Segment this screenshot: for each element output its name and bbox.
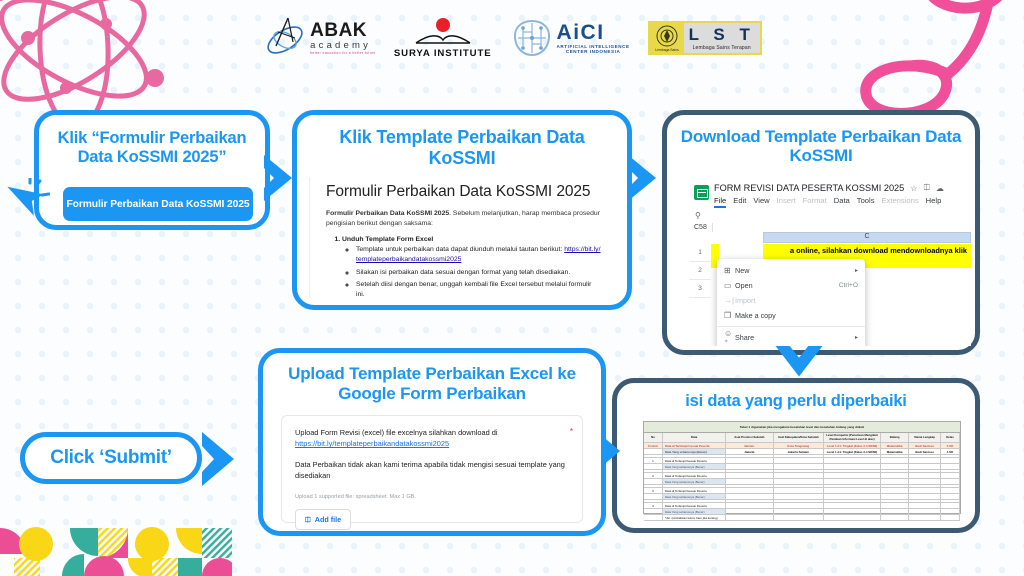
surya-sun-book-icon: [411, 17, 475, 47]
cell-no: 3: [644, 488, 663, 493]
menu-item-open-shortcut: Ctrl+O: [839, 282, 858, 289]
form-doc-bullet-1-text: Template untuk perbaikan data dapat diun…: [356, 246, 564, 253]
move-folder-icon[interactable]: ⎅: [923, 183, 929, 193]
cell-kelas: 3 SD: [941, 443, 960, 448]
cell-bidang: Matematika: [881, 449, 909, 454]
sheets-toolbar: ⚲: [689, 208, 971, 223]
aici-logo: AiCI ARTIFICIAL INTELLIGENCE CENTER INDO…: [510, 17, 630, 59]
aici-logo-line1: AiCI: [557, 22, 630, 43]
cloud-status-icon: ☁: [936, 184, 944, 193]
menu-extensions[interactable]: Extensions: [882, 196, 919, 208]
cell-kabupaten: Kota Tangerang: [774, 443, 825, 448]
add-file-label: Add file: [315, 514, 341, 525]
cell-bidang: Matematika: [881, 443, 909, 448]
menu-item-email[interactable]: ✉ Email ▸: [717, 345, 865, 346]
cell-data: Data Yang seharusnya (Benar): [663, 449, 726, 454]
aici-logo-line3: CENTER INDONESIA: [557, 50, 630, 55]
cell-data: Data di Terlampir/sesuai Peserta: [663, 503, 726, 508]
step-1-title: Klik “Formulir Perbaikan Data KoSSMI 202…: [39, 115, 265, 167]
step-3-title: Download Template Perbaikan Data KoSSMI: [667, 115, 975, 166]
form-doc-bullet-3: Setelah diisi dengan benar, unggah kemba…: [356, 280, 601, 297]
abak-logo-tagline: better education for a better future: [310, 52, 376, 55]
lst-logo-line1: L S T: [689, 26, 755, 43]
menu-item-import-label: Import: [735, 296, 858, 305]
form-document-screenshot: Formulir Perbaikan Data KoSSMI 2025 Form…: [309, 177, 615, 297]
cell-no: 2: [644, 473, 663, 478]
table-footer-row: *dst. (tambahkan kolom baru jika kurang): [644, 515, 960, 521]
cell-kelas: 4 SD: [941, 449, 960, 454]
sheets-document-title[interactable]: FORM REVISI DATA PESERTA KOSSMI 2025: [714, 183, 904, 193]
form-doc-bullet-2: Silakan isi perbaikan data sesuai dengan…: [356, 268, 601, 278]
lst-seal-icon: Lembaga Sains: [650, 23, 684, 53]
star-icon[interactable]: ☆: [910, 184, 917, 193]
row-header-1[interactable]: 1: [689, 244, 711, 262]
surya-logo-label: SURYA INSTITUTE: [394, 48, 492, 59]
arrow-step2-to-step3: [622, 152, 666, 204]
menu-separator-1: [717, 326, 865, 327]
abak-logo-line1: ABAK: [310, 21, 376, 40]
menu-item-make-a-copy[interactable]: ❐ Make a copy: [717, 308, 865, 323]
import-icon: →|: [724, 296, 735, 305]
menu-file[interactable]: File: [714, 196, 726, 208]
menu-item-open[interactable]: ▭ Open Ctrl+O: [717, 278, 865, 293]
copy-icon: ❐: [724, 311, 735, 320]
menu-item-copy-label: Make a copy: [735, 311, 858, 320]
file-dropdown-menu: ⊞ New ▸ ▭ Open Ctrl+O →| Import ❐ Make a…: [717, 259, 865, 346]
cell-nama: Budi Santoso: [909, 449, 941, 454]
lst-logo-line2: Lembaga Sains Terapan: [693, 45, 751, 51]
menu-tools[interactable]: Tools: [857, 196, 875, 208]
arrow-step5-to-step6: [196, 428, 244, 490]
cell-nama: Budi Santoso: [909, 443, 941, 448]
step-5-card: Upload Template Perbaikan Excel ke Googl…: [258, 348, 606, 536]
abak-logo-line2: academy: [310, 41, 376, 51]
menu-format[interactable]: Format: [803, 196, 827, 208]
sheets-menubar: File Edit View Insert Format Data Tools …: [714, 196, 967, 208]
cell-footer-note: *dst. (tambahkan kolom baru jika kurang): [663, 515, 726, 520]
google-sheets-screenshot: FORM REVISI DATA PESERTA KOSSMI 2025 ☆ ⎅…: [689, 179, 971, 346]
svg-text:Lembaga Sains: Lembaga Sains: [655, 48, 679, 52]
row-header-2[interactable]: 2: [689, 262, 711, 280]
cell-level: Level 1 A1: Tingkat (Kelas 3-4 SD/MI): [824, 443, 881, 448]
cell-kabupaten: Jakarta Selatan: [774, 449, 825, 454]
menu-item-open-label: Open: [735, 281, 839, 290]
header-no: No: [644, 433, 663, 442]
menu-help[interactable]: Help: [926, 196, 942, 208]
cell-no: Contoh: [644, 443, 663, 448]
form-template-link[interactable]: https://bit.ly/templateperbaikandatakoss…: [295, 439, 449, 448]
step-4-title: isi data yang perlu diperbaiki: [617, 383, 975, 411]
cell-data: Data Yang seharusnya (Benar): [663, 479, 726, 484]
menu-view[interactable]: View: [753, 196, 769, 208]
form-question-line2: Data Perbaikan tidak akan kami terima ap…: [295, 459, 569, 482]
menu-edit[interactable]: Edit: [733, 196, 746, 208]
form-doc-item-1-title: Unduh Template Form Excel: [342, 236, 433, 243]
cell-data: Data Yang seharusnya (Benar): [663, 464, 726, 469]
menu-item-share[interactable]: ☺⁺ Share ▸: [717, 330, 865, 345]
abak-academy-logo: ABAK academy better education for a bett…: [262, 16, 376, 60]
required-marker: *: [570, 426, 573, 438]
lst-logo: Lembaga Sains L S T Lembaga Sains Terapa…: [648, 21, 762, 55]
step-2-card: Klik Template Perbaikan Data KoSSMI Form…: [292, 110, 632, 310]
header-nama: Nama Lengkap: [909, 433, 941, 442]
cell-data: Data Yang seharusnya (Benar): [663, 494, 726, 499]
header-data: Data: [663, 433, 726, 442]
header-level: Level Kompetisi (Penulisan Mengikuti Pan…: [824, 433, 881, 442]
sheets-topbar: FORM REVISI DATA PESERTA KOSSMI 2025 ☆ ⎅…: [689, 179, 971, 208]
cell-provinsi: Banten: [726, 443, 773, 448]
cell-no: 1: [644, 458, 663, 463]
step-2-title: Klik Template Perbaikan Data KoSSMI: [297, 115, 627, 168]
cell-provinsi: Jakarta: [726, 449, 773, 454]
row-header-3[interactable]: 3: [689, 280, 711, 298]
menu-insert[interactable]: Insert: [777, 196, 796, 208]
search-icon[interactable]: ⚲: [695, 211, 701, 220]
cell-data: Data di Terlampir/sesuai Peserta: [663, 488, 726, 493]
header-provinsi: Asal Provinsi Sekolah: [726, 433, 773, 442]
new-icon: ⊞: [724, 266, 735, 275]
cell-no: 4: [644, 503, 663, 508]
formulir-perbaikan-button[interactable]: Formulir Perbaikan Data KoSSMI 2025: [63, 187, 253, 221]
form-doc-intro: Formulir Perbaikan Data KoSSMI 2025. Seb…: [326, 209, 601, 229]
aici-brain-icon: [510, 17, 554, 59]
sheets-title-row: FORM REVISI DATA PESERTA KOSSMI 2025 ☆ ⎅…: [714, 183, 967, 193]
menu-data[interactable]: Data: [834, 196, 850, 208]
header-kelas: Kelas: [941, 433, 960, 442]
form-doc-sublist: Template untuk perbaikan data dapat diun…: [356, 245, 601, 297]
menu-item-share-label: Share: [735, 333, 855, 342]
upload-icon: ⎅: [305, 514, 311, 525]
partner-logo-bar: ABAK academy better education for a bett…: [0, 16, 1024, 60]
add-file-button[interactable]: ⎅ Add file: [295, 509, 351, 530]
google-sheets-icon: [694, 185, 709, 200]
share-icon: ☺⁺: [724, 329, 735, 347]
step-1-card: Klik “Formulir Perbaikan Data KoSSMI 202…: [34, 110, 270, 230]
form-doc-heading: Formulir Perbaikan Data KoSSMI 2025: [326, 183, 601, 201]
cell-data: Data di Terlampir/sesuai Peserta: [663, 443, 726, 448]
google-form-upload-question: * Upload Form Revisi (excel) file exceln…: [281, 415, 583, 523]
form-doc-list: Unduh Template Form Excel Template untuk…: [342, 236, 601, 297]
upload-constraint-note: Upload 1 supported file: spreadsheet. Ma…: [295, 493, 569, 502]
row-headers: 1 2 3: [689, 244, 711, 298]
column-header-c[interactable]: C: [763, 232, 971, 243]
step-4-card: isi data yang perlu diperbaiki Tabel 1 d…: [612, 378, 980, 533]
menu-item-new[interactable]: ⊞ New ▸: [717, 263, 865, 278]
step-3-card: Download Template Perbaikan Data KoSSMI …: [662, 110, 980, 355]
geometric-pattern-decoration: [0, 514, 232, 576]
surya-institute-logo: SURYA INSTITUTE: [394, 17, 492, 59]
sheets-grid: C a online, silahkan download mendownloa…: [689, 232, 971, 308]
step-5-title: Upload Template Perbaikan Excel ke Googl…: [263, 353, 601, 403]
form-doc-item-1: Unduh Template Form Excel Template untuk…: [342, 236, 601, 297]
step-6-card: Click ‘Submit’: [20, 432, 202, 484]
menu-item-import[interactable]: →| Import: [717, 293, 865, 308]
header-bidang: Bidang: [881, 433, 909, 442]
open-icon: ▭: [724, 281, 735, 290]
chevron-right-icon: ▸: [855, 334, 858, 341]
chevron-right-icon: ▸: [855, 267, 858, 274]
cell-data: Data di Terlampir/sesuai Peserta: [663, 473, 726, 478]
form-doc-intro-bold: Formulir Perbaikan Data KoSSMI 2025: [326, 210, 449, 217]
form-question-line1: Upload Form Revisi (excel) file excelnya…: [295, 427, 569, 438]
menu-item-new-label: New: [735, 266, 855, 275]
header-kabupaten: Asal Kabupaten/Kota Sekolah: [774, 433, 825, 442]
cell-name-box[interactable]: C58: [689, 223, 713, 232]
spreadsheet-banner: Tabel 1 digunakan jika mengalami kesalah…: [644, 422, 960, 433]
cell-data: Data di Terlampir/sesuai Peserta: [663, 458, 726, 463]
abak-mark-icon: [262, 16, 308, 60]
cell-no: [644, 449, 663, 454]
step-6-label: Click ‘Submit’: [50, 447, 171, 469]
cell-data: Data Yang seharusnya (Benar): [663, 509, 726, 514]
cell-level: Level 1 A1: Tingkat (Kelas 3-4 SD/MI): [824, 449, 881, 454]
correction-spreadsheet-screenshot: Tabel 1 digunakan jika mengalami kesalah…: [643, 421, 961, 514]
form-doc-bullet-1: Template untuk perbaikan data dapat diun…: [356, 245, 601, 265]
spreadsheet-header-row: No Data Asal Provinsi Sekolah Asal Kabup…: [644, 433, 960, 443]
